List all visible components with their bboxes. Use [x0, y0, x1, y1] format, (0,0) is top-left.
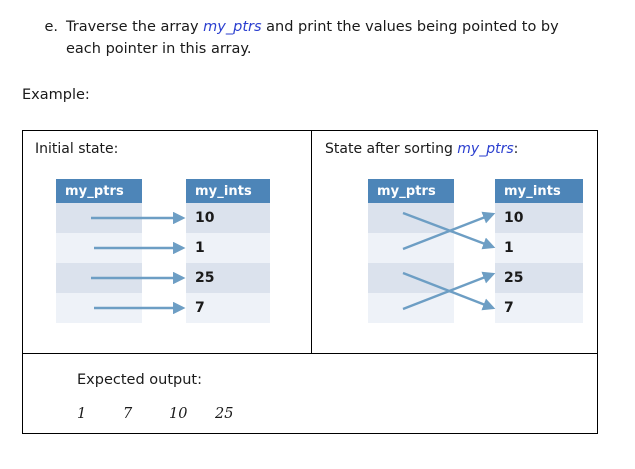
left-my-ints-cell: 25 — [186, 263, 270, 293]
expected-output-label: Expected output: — [77, 372, 202, 388]
left-my-ints-cell: 10 — [186, 203, 270, 233]
output-value: 25 — [215, 406, 261, 422]
left-my-ptrs-cell — [56, 263, 142, 293]
question-text-before: Traverse the array — [66, 19, 203, 35]
output-value: 1 — [77, 406, 123, 422]
question-block: e. Traverse the array my_ptrs and print … — [36, 16, 596, 60]
left-my-ptrs-header: my_ptrs — [56, 179, 142, 203]
panel-right-caption-code: my_ptrs — [457, 141, 513, 157]
right-my-ptrs-cell — [368, 263, 454, 293]
left-my-ptrs-cell — [56, 233, 142, 263]
question-marker: e. — [36, 16, 58, 38]
left-my-ints-cell: 1 — [186, 233, 270, 263]
left-my-ptrs-array: my_ptrs — [56, 179, 142, 323]
panel-left-caption: Initial state: — [35, 141, 118, 157]
right-my-ints-cell: 7 — [495, 293, 583, 323]
right-my-ptrs-cell — [368, 203, 454, 233]
question-code-my-ptrs: my_ptrs — [203, 19, 261, 35]
panel-initial-state: Initial state: my_ptrs my_ints 10 1 25 7 — [23, 131, 311, 353]
right-my-ptrs-cell — [368, 293, 454, 323]
panel-sorted-state: State after sorting my_ptrs: my_ptrs my_… — [313, 131, 599, 353]
right-my-ints-cell: 10 — [495, 203, 583, 233]
left-my-ints-header: my_ints — [186, 179, 270, 203]
right-my-ints-cell: 25 — [495, 263, 583, 293]
right-my-ints-array: my_ints 10 1 25 7 — [495, 179, 583, 323]
figure-box: Initial state: my_ptrs my_ints 10 1 25 7 — [22, 130, 598, 434]
right-my-ptrs-header: my_ptrs — [368, 179, 454, 203]
left-my-ptrs-cell — [56, 293, 142, 323]
right-my-ptrs-array: my_ptrs — [368, 179, 454, 323]
expected-output-area: Expected output: 171025 — [23, 353, 597, 433]
panel-right-caption-before: State after sorting — [325, 141, 457, 157]
right-my-ints-cell: 1 — [495, 233, 583, 263]
vertical-divider — [311, 131, 312, 353]
question-text: Traverse the array my_ptrs and print the… — [66, 16, 596, 60]
output-value: 7 — [123, 406, 169, 422]
panel-right-caption: State after sorting my_ptrs: — [325, 141, 518, 157]
panel-right-caption-after: : — [514, 141, 519, 157]
left-my-ints-cell: 7 — [186, 293, 270, 323]
expected-output-values: 171025 — [77, 406, 261, 422]
right-my-ptrs-cell — [368, 233, 454, 263]
left-my-ptrs-cell — [56, 203, 142, 233]
left-my-ints-array: my_ints 10 1 25 7 — [186, 179, 270, 323]
example-label: Example: — [22, 87, 90, 103]
right-my-ints-header: my_ints — [495, 179, 583, 203]
output-value: 10 — [169, 406, 215, 422]
